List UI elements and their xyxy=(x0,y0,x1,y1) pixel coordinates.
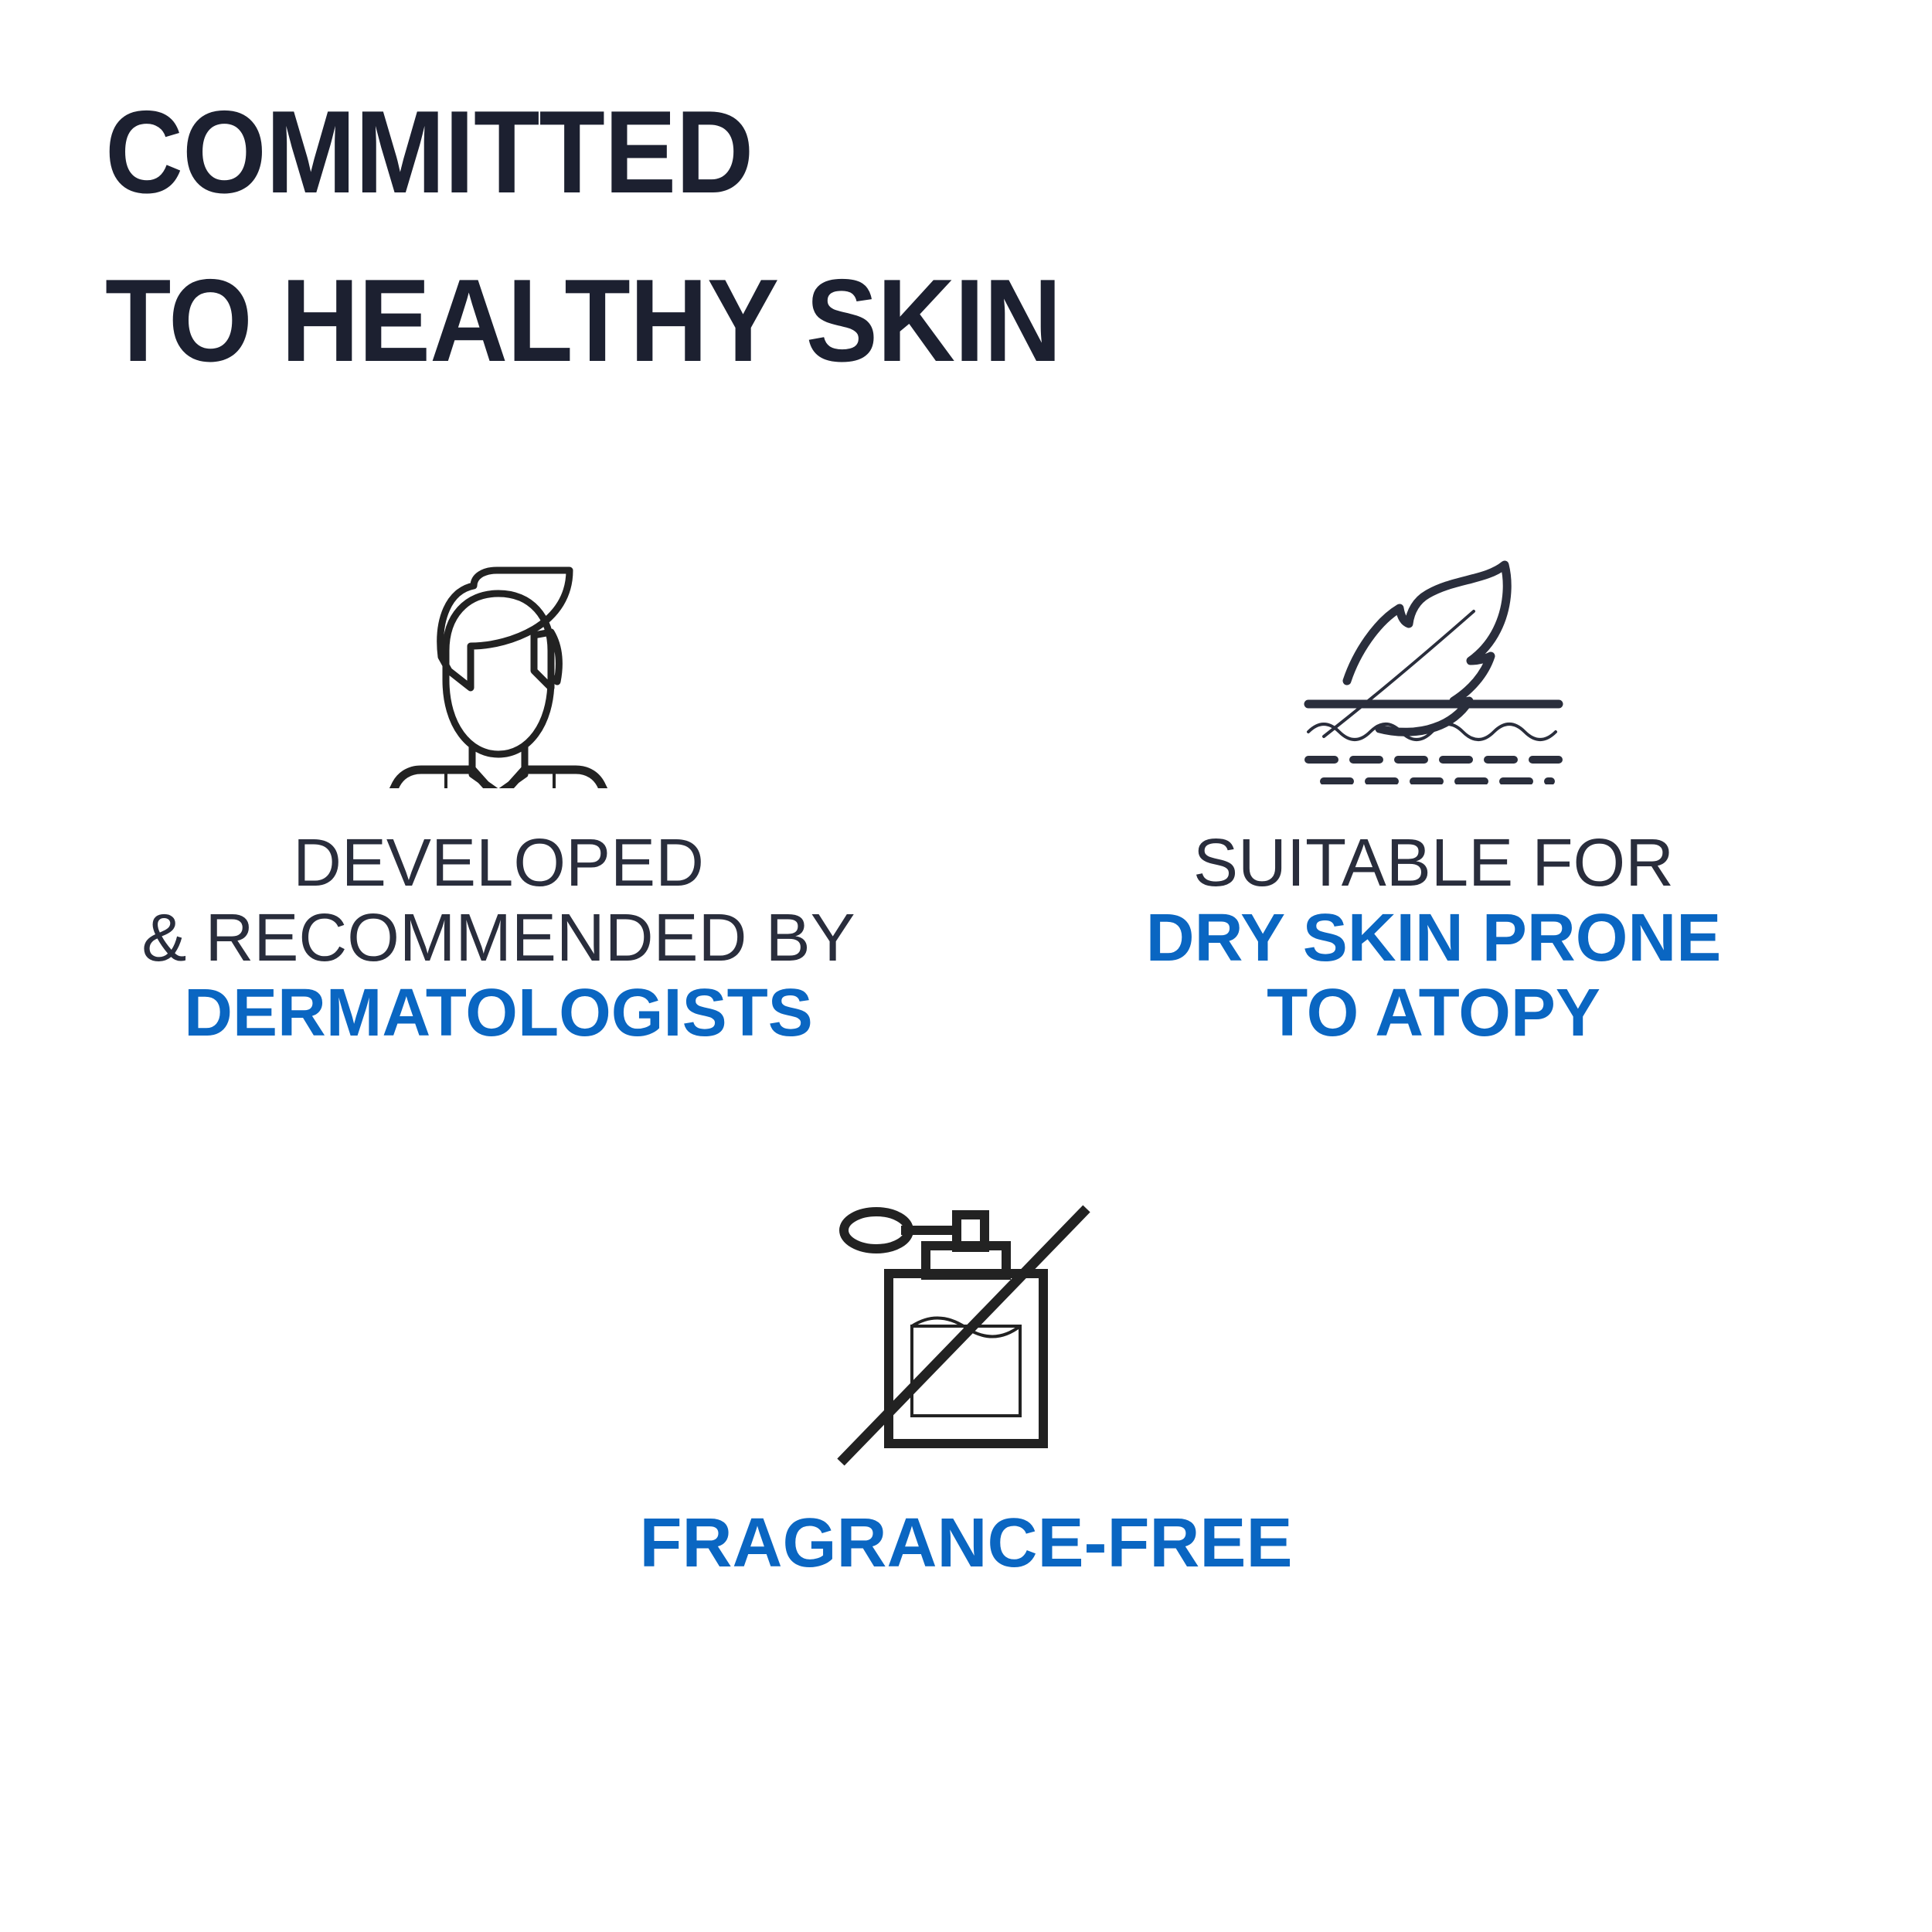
caption-line-highlight: DERMATOLOGISTS xyxy=(141,975,855,1050)
doctor-stethoscope-icon xyxy=(375,533,622,788)
feature-caption: DEVELOPED & RECOMMENDED BY DERMATOLOGIST… xyxy=(141,825,855,1050)
feature-dermatologists: DEVELOPED & RECOMMENDED BY DERMATOLOGIST… xyxy=(54,533,943,1050)
feature-dry-skin-atopy: SUITABLE FOR DRY SKIN PRONE TO ATOPY xyxy=(989,533,1878,1050)
caption-line: DEVELOPED xyxy=(141,825,855,900)
caption-line-highlight: DRY SKIN PRONE xyxy=(1146,900,1721,975)
doctor-stethoscope-glyph xyxy=(375,533,622,788)
feather-skin-layers-glyph xyxy=(1302,537,1565,784)
headline-line-1: COMMITTED xyxy=(105,107,1456,198)
caption-line-highlight: FRAGRANCE-FREE xyxy=(640,1505,1293,1582)
feather-skin-layers-icon xyxy=(1302,533,1565,788)
feature-caption: SUITABLE FOR DRY SKIN PRONE TO ATOPY xyxy=(1146,825,1721,1050)
feature-row-bottom: FRAGRANCE-FREE xyxy=(0,1205,1932,1582)
feature-caption: FRAGRANCE-FREE xyxy=(640,1505,1293,1582)
caption-line-highlight: TO ATOPY xyxy=(1146,975,1721,1050)
page-title: COMMITTED TO HEALTHY SKIN xyxy=(105,107,1573,366)
caption-line: SUITABLE FOR xyxy=(1146,825,1721,900)
no-fragrance-bottle-glyph xyxy=(827,1193,1105,1471)
headline-line-2: TO HEALTHY SKIN xyxy=(105,275,1456,366)
no-fragrance-bottle-icon xyxy=(827,1205,1105,1460)
feature-fragrance-free: FRAGRANCE-FREE xyxy=(502,1205,1430,1582)
caption-line: & RECOMMENDED BY xyxy=(141,900,855,975)
feature-grid: DEVELOPED & RECOMMENDED BY DERMATOLOGIST… xyxy=(0,533,1932,1582)
infographic-page: COMMITTED TO HEALTHY SKIN xyxy=(0,0,1932,1932)
feature-row-top: DEVELOPED & RECOMMENDED BY DERMATOLOGIST… xyxy=(0,533,1932,1050)
